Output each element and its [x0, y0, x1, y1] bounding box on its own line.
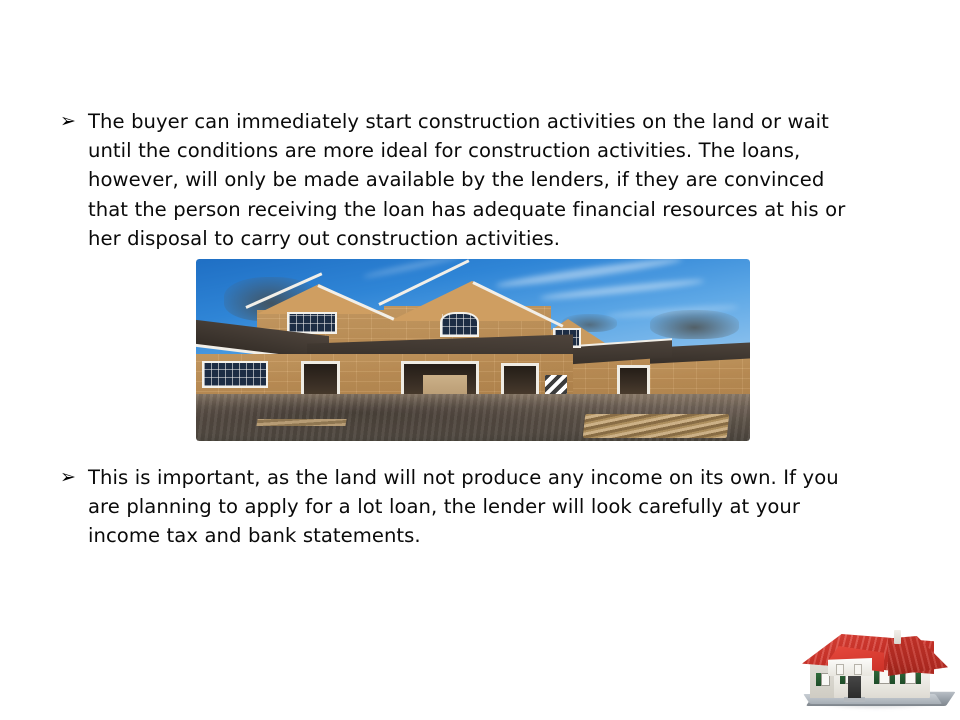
photo-garage-opening-3 [617, 365, 650, 398]
house-icon-chimney [894, 630, 901, 644]
bullet-paragraph-2-text: This is important, as the land will not … [88, 463, 870, 551]
house-icon-dormer-window [854, 664, 862, 675]
photo-window [287, 312, 337, 334]
construction-photo [196, 259, 750, 441]
bullet-paragraph-1: ➢ The buyer can immediately start constr… [58, 107, 870, 253]
house-model-icon [800, 614, 952, 714]
arrow-bullet-icon: ➢ [58, 463, 88, 492]
arrow-bullet-icon: ➢ [58, 107, 88, 136]
photo-gable [257, 284, 381, 314]
photo-lumber-board [256, 419, 346, 426]
slide-canvas: ➢ The buyer can immediately start constr… [0, 0, 960, 720]
bullet-paragraph-2: ➢ This is important, as the land will no… [58, 463, 870, 551]
photo-bare-tree [650, 310, 739, 339]
photo-lumber-pile [583, 414, 730, 438]
bullet-paragraph-1-text: The buyer can immediately start construc… [88, 107, 870, 253]
construction-photo-image [196, 259, 750, 441]
house-icon-dormer-face [828, 658, 872, 676]
photo-bay-window [202, 361, 268, 388]
photo-arched-window [440, 312, 479, 337]
house-icon-dormer-window [836, 664, 844, 675]
